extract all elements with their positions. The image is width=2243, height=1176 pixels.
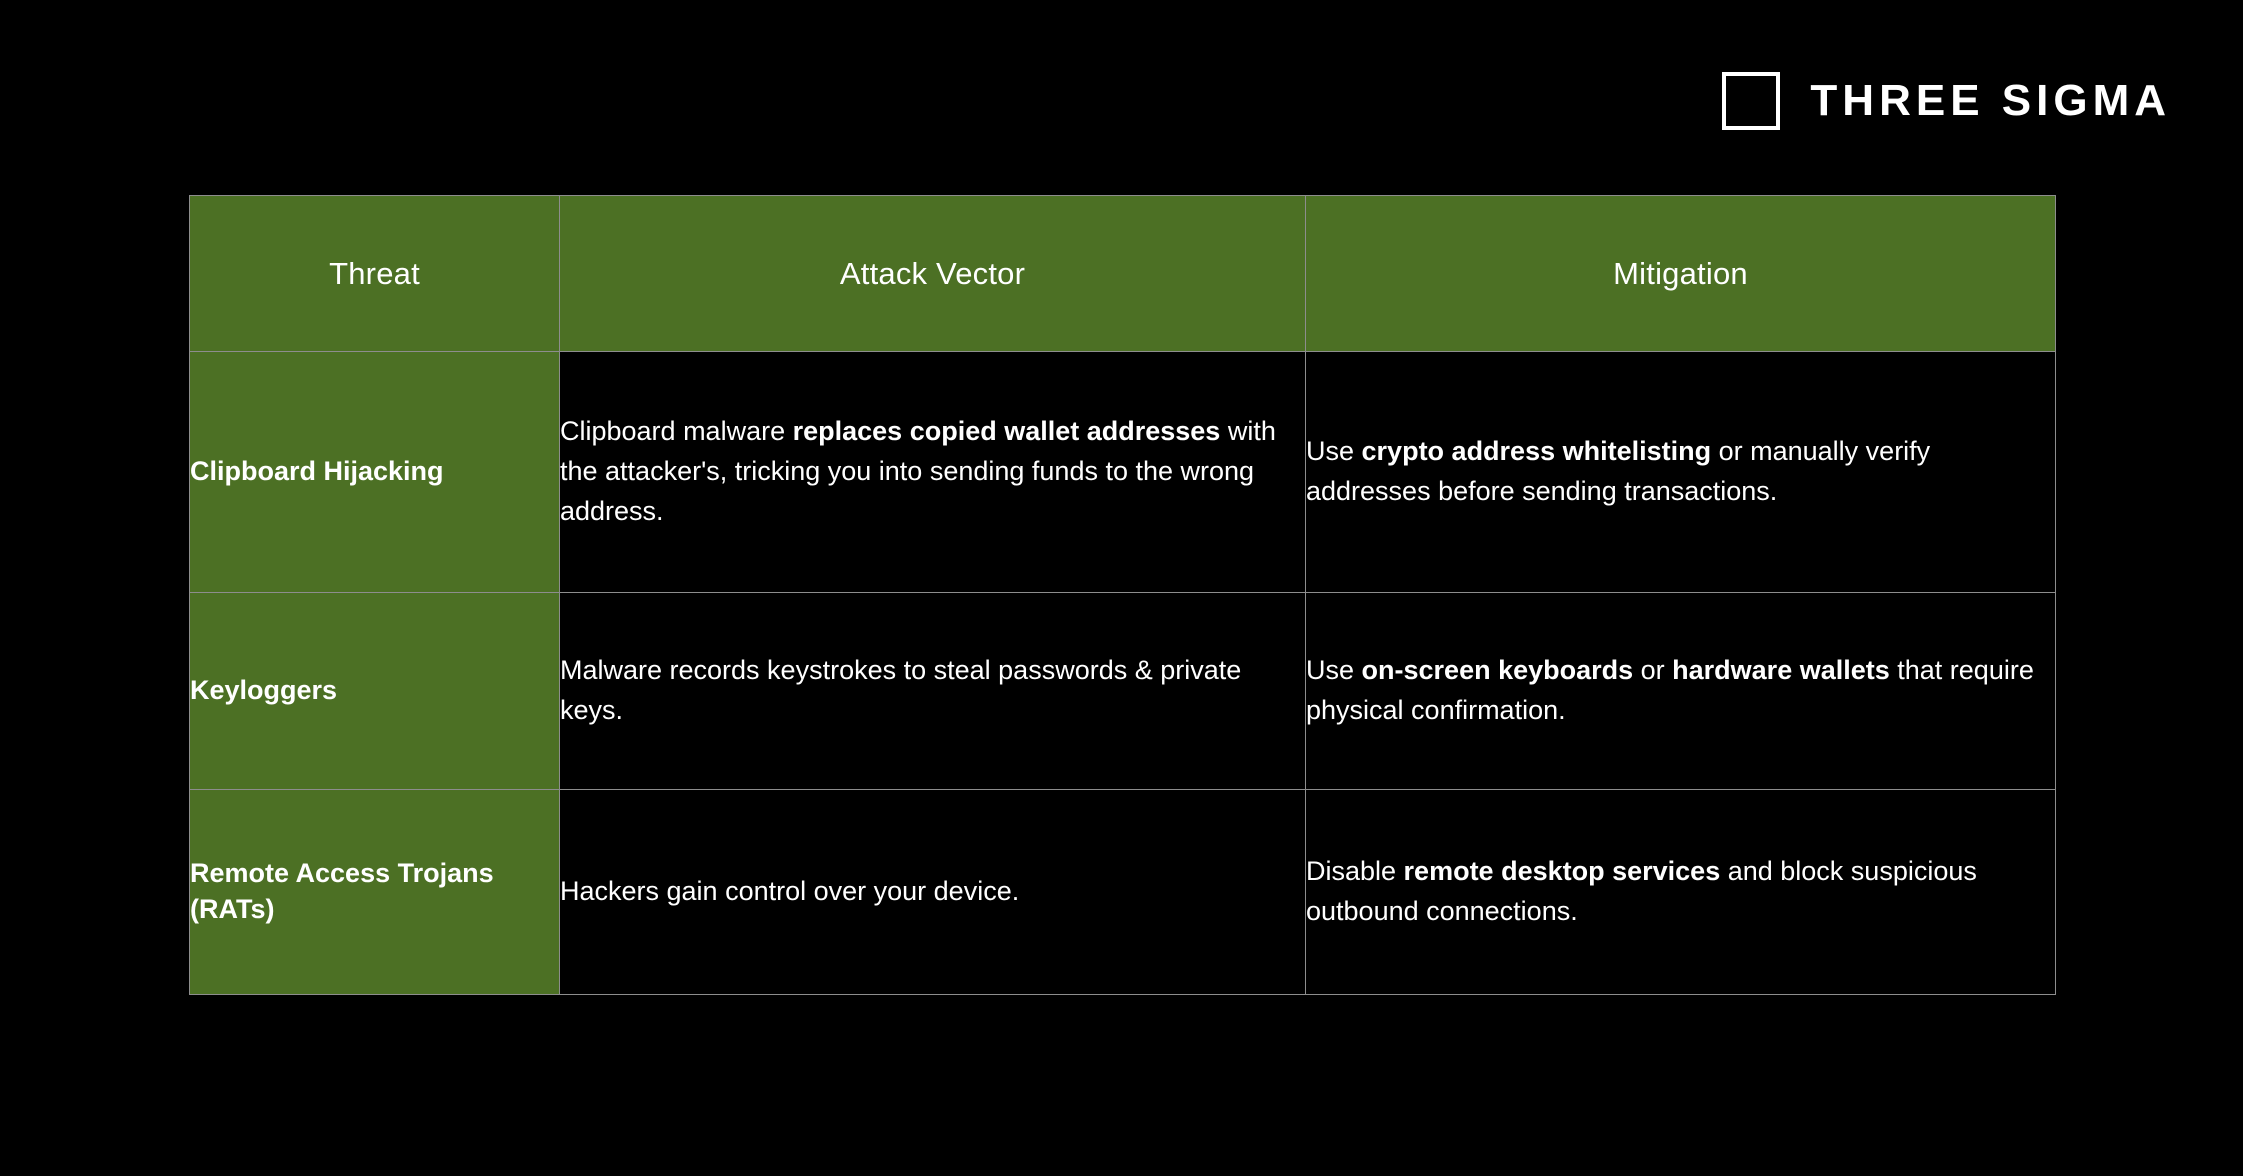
cell-threat: Keyloggers <box>190 593 560 790</box>
table-row: Keyloggers Malware records keystrokes to… <box>190 593 2056 790</box>
brand-logo: THREE SIGMA <box>1722 70 2171 132</box>
three-sigma-square-curve-icon <box>1722 72 1780 130</box>
table-header: Threat Attack Vector Mitigation <box>190 196 2056 352</box>
column-header-attack-vector: Attack Vector <box>560 196 1306 352</box>
slide-root: THREE SIGMA Threat Attack Vector Mitigat… <box>0 0 2243 1176</box>
cell-mitigation: Use on-screen keyboards or hardware wall… <box>1306 593 2056 790</box>
brand-name: THREE SIGMA <box>1810 79 2171 123</box>
cell-attack-vector: Hackers gain control over your device. <box>560 790 1306 995</box>
cell-threat: Clipboard Hijacking <box>190 352 560 593</box>
cell-threat: Remote Access Trojans (RATs) <box>190 790 560 995</box>
table-row: Clipboard Hijacking Clipboard malware re… <box>190 352 2056 593</box>
column-header-mitigation: Mitigation <box>1306 196 2056 352</box>
table-row: Remote Access Trojans (RATs) Hackers gai… <box>190 790 2056 995</box>
cell-mitigation: Disable remote desktop services and bloc… <box>1306 790 2056 995</box>
cell-attack-vector: Clipboard malware replaces copied wallet… <box>560 352 1306 593</box>
column-header-threat: Threat <box>190 196 560 352</box>
table-body: Clipboard Hijacking Clipboard malware re… <box>190 352 2056 995</box>
cell-attack-vector: Malware records keystrokes to steal pass… <box>560 593 1306 790</box>
cell-mitigation: Use crypto address whitelisting or manua… <box>1306 352 2056 593</box>
table-header-row: Threat Attack Vector Mitigation <box>190 196 2056 352</box>
threat-mitigation-table-wrapper: Threat Attack Vector Mitigation Clipboar… <box>189 195 2055 995</box>
threat-mitigation-table: Threat Attack Vector Mitigation Clipboar… <box>189 195 2056 995</box>
